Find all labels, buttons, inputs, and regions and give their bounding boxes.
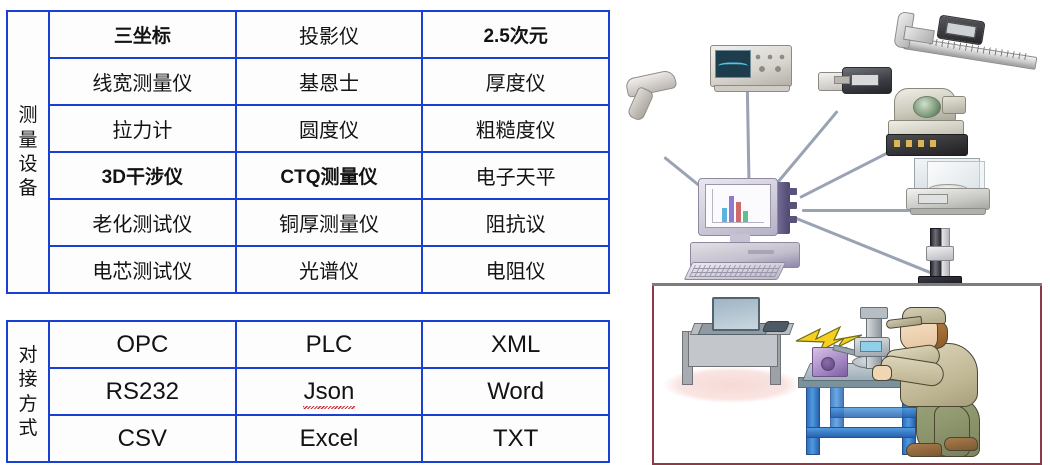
table-row: RS232 Json Word [7, 368, 609, 415]
equipment-cell-r1c0: 线宽测量仪 [49, 58, 236, 105]
profile-projector-icon [886, 88, 970, 162]
desk-panel [688, 331, 778, 367]
table-row: CSV Excel TXT [7, 415, 609, 462]
laptop-mouse [762, 321, 790, 332]
operator-figure [882, 305, 998, 451]
projector-buttons [894, 140, 940, 147]
chart-y-axis [712, 189, 713, 223]
equipment-cell-r0c2: 2.5次元 [422, 11, 609, 58]
projector-lens [913, 96, 941, 118]
keyboard-keys [689, 265, 781, 277]
balance-display [918, 194, 948, 204]
caliper-display [945, 22, 977, 39]
table-row: 线宽测量仪 基恩士 厚度仪 [7, 58, 609, 105]
barcode-scanner-icon [622, 70, 678, 126]
oscilloscope-icon [710, 45, 792, 87]
interface-cell-r0c0: OPC [49, 321, 236, 368]
equipment-cell-r2c2: 粗糙度仪 [422, 105, 609, 152]
computer-monitor [698, 178, 778, 236]
wire-to-oscilloscope [746, 86, 751, 183]
oscilloscope-waveform [718, 63, 748, 72]
interface-cell-r2c1: Excel [236, 415, 423, 462]
projector-arm [942, 96, 966, 114]
equipment-cell-r4c1: 铜厚测量仪 [236, 199, 423, 246]
oscilloscope-knobs [752, 51, 788, 75]
workstation-scene-frame [652, 283, 1042, 465]
bench-leg-front-left [806, 385, 820, 455]
equipment-cell-r3c2: 电子天平 [422, 152, 609, 199]
balance-feet [910, 208, 986, 215]
interface-table-body: 对接方式 OPC PLC XML RS232 Json Word CSV Exc… [7, 321, 609, 462]
workpiece-hole [821, 357, 835, 371]
table-row: 3D干涉仪 CTQ测量仪 电子天平 [7, 152, 609, 199]
interface-cell-r1c2: Word [422, 368, 609, 415]
equipment-cell-r1c2: 厚度仪 [422, 58, 609, 105]
oscilloscope-foot [714, 85, 790, 92]
interface-cell-r2c0: CSV [49, 415, 236, 462]
equipment-cell-r4c2: 阻抗议 [422, 199, 609, 246]
chart-bar-1 [722, 208, 727, 222]
interface-table-label-cell: 对接方式 [7, 321, 49, 462]
equipment-cell-r3c1: CTQ测量仪 [236, 152, 423, 199]
equipment-cell-r4c0: 老化测试仪 [49, 199, 236, 246]
interface-cell-r1c0: RS232 [49, 368, 236, 415]
equipment-table-label-cell: 测量设备 [7, 11, 49, 293]
table-row: 拉力计 圆度仪 粗糙度仪 [7, 105, 609, 152]
interface-cell-r0c2: XML [422, 321, 609, 368]
interface-table-label: 对接方式 [17, 343, 39, 440]
computer-screen [705, 184, 771, 228]
equipment-cell-r5c1: 光谱仪 [236, 246, 423, 293]
interface-cell-r1c1: Json [236, 368, 423, 415]
laptop-screen [712, 297, 760, 331]
digital-caliper-icon [890, 8, 1038, 70]
micrometer-display [851, 74, 879, 86]
height-gauge-carriage [926, 246, 954, 261]
equipment-cell-r5c2: 电阻仪 [422, 246, 609, 293]
measurement-network-illustration [618, 0, 1050, 465]
operator-shoe-front [906, 443, 942, 457]
interface-cell-r0c1: PLC [236, 321, 423, 368]
interface-cell-r2c2: TXT [422, 415, 609, 462]
interface-table: 对接方式 OPC PLC XML RS232 Json Word CSV Exc… [6, 320, 610, 463]
table-row: 电芯测试仪 光谱仪 电阻仪 [7, 246, 609, 293]
operator-shoe-back [944, 437, 978, 451]
central-computer-icon [690, 178, 808, 278]
equipment-table-label: 测量设备 [17, 103, 39, 200]
table-row: 老化测试仪 铜厚测量仪 阻抗议 [7, 199, 609, 246]
computer-keyboard [684, 262, 787, 280]
bench-gauge-display [860, 341, 882, 352]
chart-bar-2 [729, 196, 734, 222]
equipment-cell-r2c0: 拉力计 [49, 105, 236, 152]
equipment-cell-r1c1: 基恩士 [236, 58, 423, 105]
computer-port-1 [788, 188, 797, 195]
equipment-cell-r0c0: 三坐标 [49, 11, 236, 58]
equipment-cell-r3c0: 3D干涉仪 [49, 152, 236, 199]
table-row: 对接方式 OPC PLC XML [7, 321, 609, 368]
digital-micrometer-icon [818, 66, 894, 98]
equipment-cell-r0c1: 投影仪 [236, 11, 423, 58]
equipment-cell-r2c1: 圆度仪 [236, 105, 423, 152]
equipment-table: 测量设备 三坐标 投影仪 2.5次元 线宽测量仪 基恩士 厚度仪 拉力计 圆度仪… [6, 10, 610, 294]
computer-drive-slot [748, 250, 774, 254]
interface-cell-r1c1-text: Json [304, 378, 355, 406]
micrometer-spindle [834, 76, 850, 84]
equipment-table-body: 测量设备 三坐标 投影仪 2.5次元 线宽测量仪 基恩士 厚度仪 拉力计 圆度仪… [7, 11, 609, 293]
operator-hand [872, 365, 892, 381]
workstation-scene [654, 285, 1040, 463]
height-gauge-icon [918, 228, 962, 290]
wire-to-projector [799, 146, 898, 199]
chart-bar-4 [743, 211, 748, 222]
wire-to-height-gauge [793, 216, 931, 274]
chart-x-axis [712, 222, 764, 223]
equipment-cell-r5c0: 电芯测试仪 [49, 246, 236, 293]
computer-port-2 [788, 202, 797, 209]
oscilloscope-screen [715, 50, 751, 78]
table-row: 测量设备 三坐标 投影仪 2.5次元 [7, 11, 609, 58]
analytical-balance-icon [906, 158, 992, 220]
computer-port-3 [788, 216, 797, 223]
chart-bar-3 [736, 202, 741, 222]
